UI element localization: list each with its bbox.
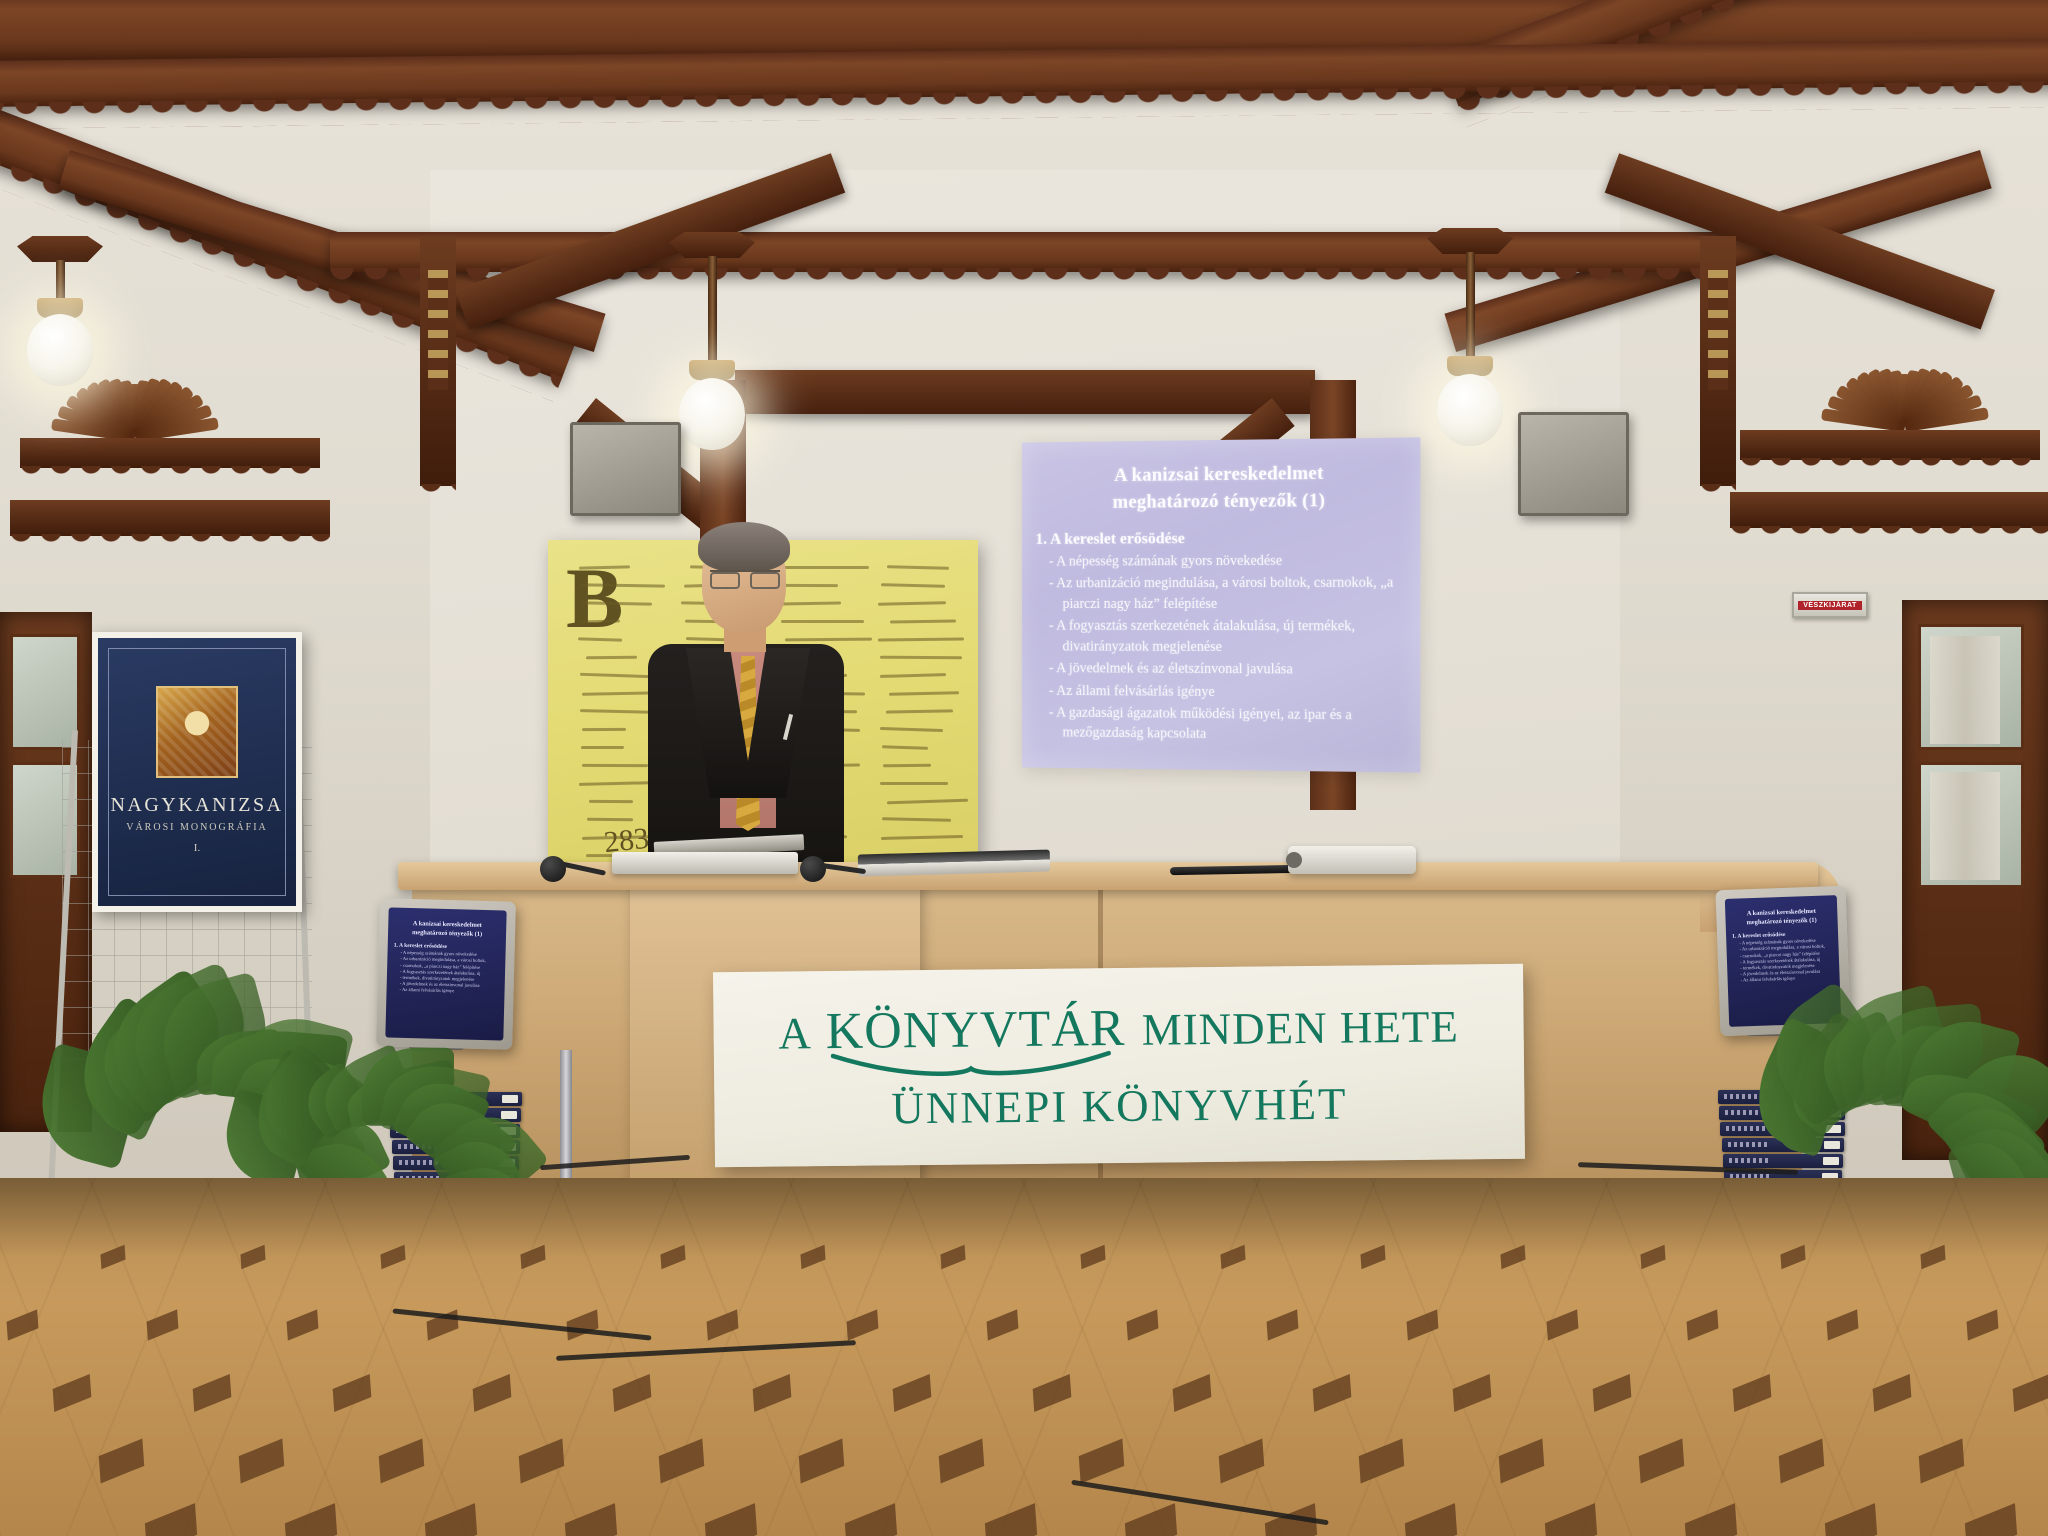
handwriting-stroke — [882, 817, 952, 822]
banner-line-1: A KÖNYVTÁR MINDEN HETE — [778, 995, 1459, 1061]
lamp-rod — [708, 256, 717, 368]
emergency-exit-sign: VÉSZKIJÁRAT — [1792, 592, 1868, 618]
presenter-hair — [698, 522, 790, 572]
slide-bullet: A jövedelmek és az életszínvonal javulás… — [1049, 658, 1410, 680]
carved-sunburst-right — [1800, 280, 2010, 430]
handwriting-stroke — [882, 745, 928, 750]
lamp-rod — [1466, 252, 1475, 364]
slide-bullet: Az urbanizáció megindulása, a városi bol… — [1049, 573, 1410, 614]
slide-bullet: A fogyasztás szerkezetének átalakulása, … — [1049, 616, 1410, 658]
lamp-globe — [27, 314, 93, 386]
handwriting-stroke — [887, 565, 949, 570]
presenter — [636, 528, 856, 888]
door-pane — [10, 634, 80, 750]
monograph-poster: NAGYKANIZSA VÁROSI MONOGRÁFIA I. — [92, 632, 302, 912]
loudspeaker-right-icon — [1518, 412, 1629, 516]
slide-bullet: Az állami felvásárlás igénye — [1049, 681, 1410, 704]
slide-title-line1: A kanizsai kereskedelmet — [1047, 460, 1394, 491]
handwriting-stroke — [880, 656, 962, 660]
handwriting-stroke — [890, 619, 956, 623]
open-book-swoosh-icon — [831, 1049, 1111, 1078]
handwriting-stroke — [878, 637, 964, 641]
carved-ornament-left — [428, 270, 448, 390]
carved-bar-left-2 — [10, 500, 330, 536]
microphone-icon-center[interactable] — [800, 856, 826, 882]
exit-sign-label: VÉSZKIJÁRAT — [1798, 601, 1862, 610]
monitor-title: A kanizsai kereskedelmetmeghatározó tény… — [388, 907, 507, 941]
handwriting-stroke — [878, 601, 946, 606]
projector-icon[interactable] — [1288, 846, 1416, 874]
handwriting-stroke — [883, 764, 931, 768]
floor-shadow-gradient — [0, 1178, 2048, 1258]
glasses-icon — [710, 570, 780, 586]
curtain-right-2 — [1930, 772, 2000, 880]
handwriting-stroke — [886, 709, 953, 713]
banner-line-2: ÜNNEPI KÖNYVHÉT — [891, 1078, 1348, 1135]
slide-bullet: A népesség számának gyors növekedése — [1049, 550, 1410, 572]
gable-truss-ridge — [735, 370, 1315, 414]
banner-rest: MINDEN HETE — [1141, 1001, 1459, 1054]
handwriting-stroke — [586, 656, 637, 660]
projection-screen: A kanizsai kereskedelmet meghatározó tén… — [1022, 437, 1421, 772]
handwriting-stroke — [589, 800, 633, 803]
microphone-icon-left[interactable] — [540, 856, 566, 882]
handwriting-stroke — [889, 691, 959, 695]
lamp-mount-icon — [669, 232, 755, 258]
projector-lens-icon — [1286, 852, 1302, 868]
handwriting-stroke — [881, 835, 963, 840]
handwriting-stroke — [887, 799, 969, 805]
lamp-mount-icon — [17, 236, 103, 262]
carved-ornament-right — [1708, 270, 1728, 390]
slide-heading: 1. A kereslet erősödése — [1022, 517, 1421, 552]
lamp-globe — [1437, 374, 1503, 446]
banner-article: A — [778, 1008, 810, 1058]
carved-bar-left-1 — [20, 438, 320, 468]
poster-frame-line — [108, 648, 286, 896]
handwriting-stroke — [881, 583, 945, 588]
lamp-mount-icon — [1427, 228, 1513, 254]
slide-title-line2: meghatározó tényezők (1) — [1047, 487, 1394, 517]
curtain-right — [1930, 636, 2000, 744]
poster-artwork-panel: NAGYKANIZSA VÁROSI MONOGRÁFIA I. — [98, 638, 296, 906]
presenter-desk-top — [398, 862, 1818, 890]
event-banner: A KÖNYVTÁR MINDEN HETE ÜNNEPI KÖNYVHÉT — [713, 964, 1525, 1167]
lamp-globe — [679, 378, 745, 450]
slide-bullet: A gazdasági ágazatok működési igényei, a… — [1049, 703, 1410, 747]
slide-title: A kanizsai kereskedelmet meghatározó tén… — [1022, 437, 1421, 519]
slide-bullet-list: A népesség számának gyors növekedéseAz u… — [1022, 550, 1421, 747]
handwriting-stroke — [880, 673, 946, 678]
handwriting-stroke — [880, 782, 948, 785]
handwriting-stroke — [582, 728, 626, 731]
handwriting-stroke — [581, 746, 624, 749]
handwriting-stroke — [880, 727, 943, 732]
lamp-collar — [1447, 356, 1493, 376]
handwriting-stroke — [587, 818, 633, 822]
parchment-initial: B — [566, 548, 623, 648]
laptop-icon[interactable] — [612, 852, 798, 874]
lamp-collar — [689, 360, 735, 380]
conference-hall-photo: VÉSZKIJÁRAT NAGYKANIZSA VÁROSI MONOGRÁFI… — [0, 0, 2048, 1536]
carved-bar-right-2 — [1730, 492, 2048, 528]
carved-bar-right-1 — [1740, 430, 2040, 460]
loudspeaker-left-icon — [570, 422, 681, 516]
lamp-rod — [56, 260, 65, 300]
